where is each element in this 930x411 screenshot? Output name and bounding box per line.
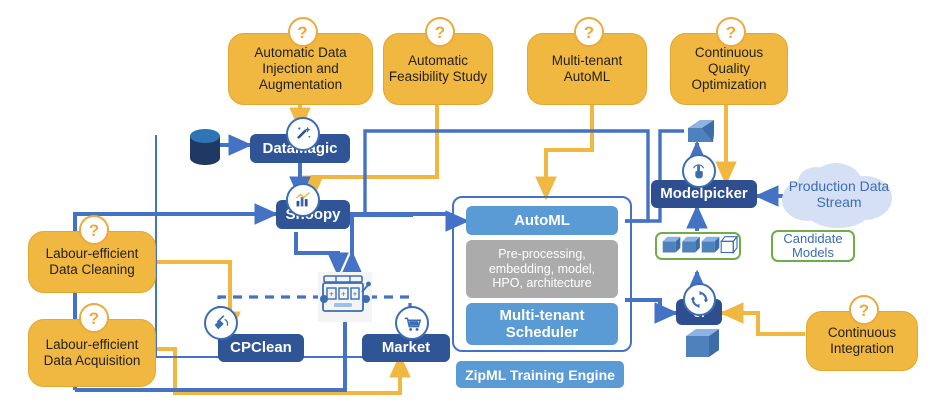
qbox-label: Automatic Data Injection and Augmentatio…	[233, 45, 368, 93]
node-label: Modelpicker	[660, 185, 748, 202]
bar-chart-icon	[286, 183, 320, 217]
refresh-cycle-icon	[683, 283, 716, 316]
shopping-cart-icon	[395, 306, 429, 340]
hand-pointer-icon	[682, 154, 716, 188]
qbox-label: Labour-efficient Data Acquisition	[33, 337, 151, 369]
badge-text: ?	[584, 24, 594, 41]
link-ci-question-to-ci	[722, 313, 805, 334]
node-label: AutoML	[514, 212, 570, 229]
question-badge-cleaning: ?	[79, 215, 109, 245]
node-label: Production Data Stream	[789, 178, 889, 210]
node-label: Multi-tenant Scheduler	[466, 307, 618, 342]
qbox-label: Continuous Integration	[811, 325, 913, 357]
question-badge-acquisition: ?	[79, 303, 109, 333]
qbox-label: Labour-efficient Data Cleaning	[33, 246, 151, 278]
badge-text: ?	[859, 302, 869, 319]
node-label: ZipML Training Engine	[465, 367, 615, 383]
badge-text: ?	[89, 310, 99, 327]
node-automl[interactable]: AutoML	[466, 206, 618, 235]
link-automl-to-ci	[625, 300, 676, 313]
node-cpclean[interactable]: CPClean	[218, 334, 304, 362]
question-badge-feasibility: ?	[425, 17, 455, 47]
link-multitenant-to-automl	[546, 104, 592, 198]
diagram-canvas: ? Automatic Data Injection and Augmentat…	[0, 0, 930, 411]
svg-text:+: +	[341, 290, 346, 299]
badge-text: ?	[726, 24, 736, 41]
broom-icon	[204, 306, 238, 340]
label-candidate-models: Candidate Models	[771, 230, 855, 262]
svg-text:+: +	[329, 290, 334, 299]
qbox-label: Continuous Quality Optimization	[675, 45, 783, 93]
node-label: Market	[382, 339, 430, 356]
node-label: Pre-processing, embedding, model, HPO, a…	[472, 247, 612, 290]
badge-text: ?	[297, 24, 307, 41]
node-label: Candidate Models	[773, 232, 853, 261]
badge-text: ?	[435, 24, 445, 41]
left-pipeline-frame	[155, 135, 410, 358]
label-zipml-training-engine: ZipML Training Engine	[456, 361, 624, 388]
qbox-label: Multi-tenant AutoML	[532, 53, 642, 85]
svg-text:+: +	[353, 290, 358, 299]
question-badge-injection: ?	[288, 17, 318, 47]
database-cylinder-icon	[188, 128, 222, 166]
node-automl-detail: Pre-processing, embedding, model, HPO, a…	[466, 240, 618, 298]
qbox-label: Automatic Feasibility Study	[388, 53, 488, 85]
magic-wand-icon	[286, 117, 320, 151]
slot-machine-icon: + + +	[318, 272, 372, 322]
ci-artifact-cube	[686, 329, 719, 357]
question-badge-continuous-integration: ?	[849, 295, 879, 325]
node-label: CPClean	[230, 339, 292, 356]
candidate-models-cubes	[655, 232, 741, 260]
deployed-model-cube	[688, 120, 714, 142]
question-badge-multitenant: ?	[574, 17, 604, 47]
question-badge-cqo: ?	[716, 17, 746, 47]
node-multi-tenant-scheduler[interactable]: Multi-tenant Scheduler	[466, 303, 618, 345]
label-production-data-stream: Production Data Stream	[780, 178, 898, 210]
badge-text: ?	[89, 222, 99, 239]
